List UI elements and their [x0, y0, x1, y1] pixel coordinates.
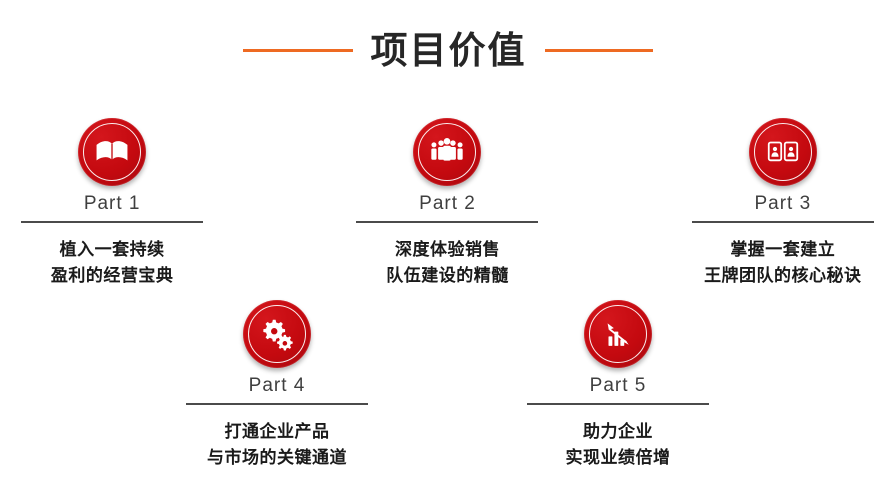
part-badge-3[interactable] [749, 118, 817, 186]
part-divider-1 [21, 221, 203, 223]
part-badge-2[interactable] [413, 118, 481, 186]
part-caption-3-line1: 掌握一套建立 [704, 237, 862, 263]
part-badge-1[interactable] [78, 118, 146, 186]
part-caption-5-line2: 实现业绩倍增 [566, 445, 671, 471]
slide-title-block: 项目价值 [0, 20, 895, 80]
part-item-1[interactable]: Part 1 植入一套持续 盈利的经营宝典 [0, 118, 224, 289]
part-caption-5-line1: 助力企业 [566, 419, 671, 445]
part-caption-4-line1: 打通企业产品 [207, 419, 347, 445]
title-rule-left-icon [243, 49, 353, 52]
part-caption-1-line1: 植入一套持续 [51, 237, 174, 263]
part-badge-4[interactable] [243, 300, 311, 368]
part-label-5: Part 5 [590, 374, 647, 398]
part-caption-4: 打通企业产品 与市场的关键通道 [207, 419, 347, 472]
gears-icon [258, 315, 296, 353]
part-divider-4 [186, 403, 368, 405]
part-caption-2: 深度体验销售 队伍建设的精髓 [386, 237, 509, 290]
part-item-5[interactable]: Part 5 助力企业 实现业绩倍增 [503, 300, 733, 471]
id-badges-icon [764, 133, 802, 171]
growth-chart-icon [599, 315, 637, 353]
part-item-2[interactable]: Part 2 深度体验销售 队伍建设的精髓 [335, 118, 559, 289]
part-caption-3-line2: 王牌团队的核心秘诀 [704, 263, 862, 289]
open-book-icon [93, 133, 131, 171]
part-caption-2-line1: 深度体验销售 [386, 237, 509, 263]
part-caption-3: 掌握一套建立 王牌团队的核心秘诀 [704, 237, 862, 290]
part-item-3[interactable]: Part 3 掌握一套建立 王牌团队的核心秘诀 [671, 118, 895, 289]
part-caption-1: 植入一套持续 盈利的经营宝典 [51, 237, 174, 290]
slide-canvas: 项目价值 Part 1 植入一套持续 盈利的经营宝典 [0, 0, 895, 503]
parts-row-top: Part 1 植入一套持续 盈利的经营宝典 [0, 118, 895, 289]
part-caption-5: 助力企业 实现业绩倍增 [566, 419, 671, 472]
part-label-4: Part 4 [249, 374, 306, 398]
part-divider-2 [356, 221, 538, 223]
part-label-1: Part 1 [84, 192, 141, 216]
part-divider-3 [692, 221, 874, 223]
people-group-icon [428, 133, 466, 171]
parts-row-bottom: Part 4 打通企业产品 与市场的关键通道 [0, 300, 895, 471]
part-caption-1-line2: 盈利的经营宝典 [51, 263, 174, 289]
part-divider-5 [527, 403, 709, 405]
page-title: 项目价值 [371, 32, 527, 69]
part-caption-2-line2: 队伍建设的精髓 [386, 263, 509, 289]
part-badge-5[interactable] [584, 300, 652, 368]
part-item-4[interactable]: Part 4 打通企业产品 与市场的关键通道 [162, 300, 392, 471]
part-label-2: Part 2 [419, 192, 476, 216]
part-label-3: Part 3 [754, 192, 811, 216]
part-caption-4-line2: 与市场的关键通道 [207, 445, 347, 471]
title-rule-right-icon [545, 49, 653, 52]
